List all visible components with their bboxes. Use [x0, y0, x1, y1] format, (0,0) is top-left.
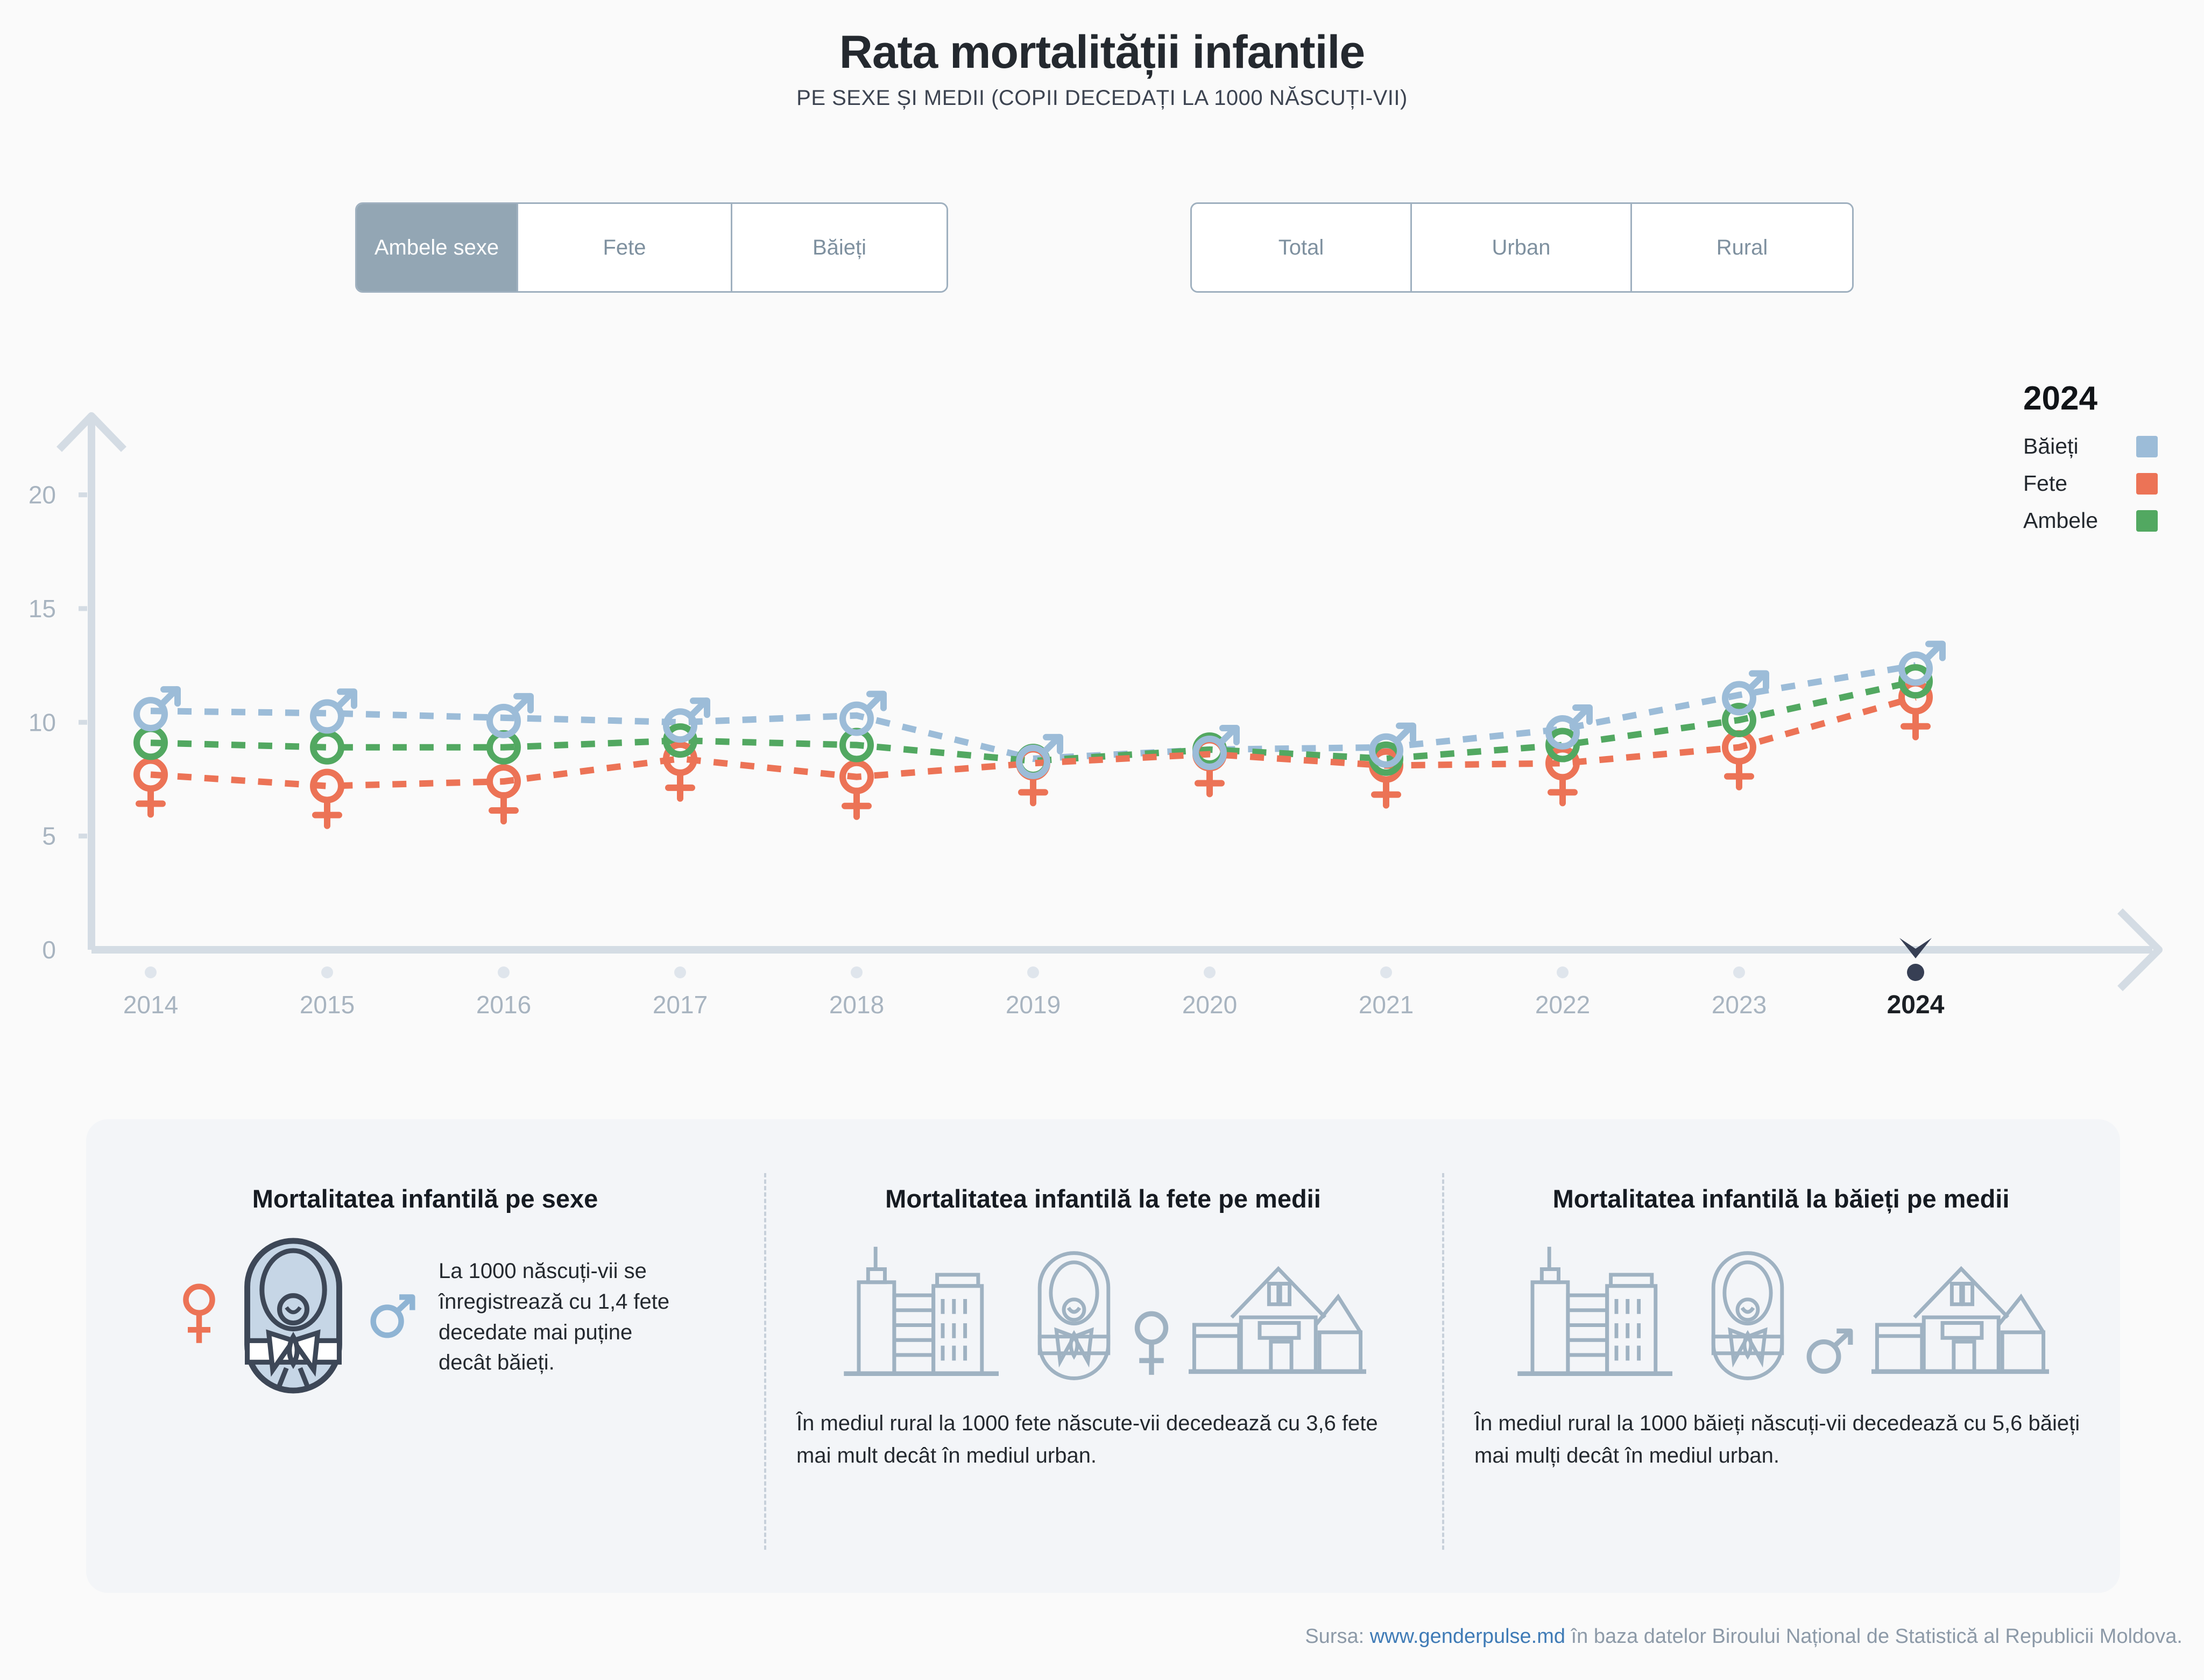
- mars-icon: [369, 1286, 417, 1348]
- card-title-by-sex: Mortalitatea infantilă pe sexe: [108, 1184, 743, 1213]
- insight-card-boys-by-env: Mortalitatea infantilă la băieți pe medi…: [1442, 1119, 2120, 1593]
- rural-houses-icon: [1871, 1259, 2049, 1386]
- toggle-urban[interactable]: Urban: [1412, 204, 1632, 291]
- svg-text:2017: 2017: [653, 991, 708, 1019]
- svg-text:20: 20: [29, 481, 56, 509]
- infographic-page: Rata mortalității infantile PE SEXE ȘI M…: [0, 0, 2204, 1680]
- toggle-ambele-sexe[interactable]: Ambele sexe: [357, 204, 518, 291]
- card-icons-boys: [1464, 1240, 2099, 1386]
- card-title-girls-by-env: Mortalitatea infantilă la fete pe medii: [786, 1184, 1421, 1213]
- card-title-boys-by-env: Mortalitatea infantilă la băieți pe medi…: [1464, 1184, 2099, 1213]
- card-body-by-sex: La 1000 născuți-vii se înregistrează cu …: [108, 1235, 743, 1399]
- source-link[interactable]: www.genderpulse.md: [1370, 1625, 1565, 1648]
- insight-card-girls-by-env: Mortalitatea infantilă la fete pe medii: [764, 1119, 1442, 1593]
- svg-text:2018: 2018: [829, 991, 884, 1019]
- svg-text:2016: 2016: [476, 991, 531, 1019]
- svg-text:2020: 2020: [1182, 991, 1237, 1019]
- svg-text:2015: 2015: [300, 991, 355, 1019]
- toggle-baieti[interactable]: Băieți: [732, 204, 946, 291]
- page-subtitle: PE SEXE ȘI MEDII (COPII DECEDAȚI LA 1000…: [0, 86, 2204, 110]
- source-suffix: în baza datelor Biroului Național de Sta…: [1565, 1625, 2182, 1648]
- swaddled-baby-icon: [1034, 1248, 1114, 1386]
- legend-swatch-ambele: [2136, 510, 2158, 532]
- card-text-by-sex: La 1000 născuți-vii se înregistrează cu …: [439, 1256, 670, 1378]
- legend-swatch-baieti: [2136, 436, 2158, 457]
- chart-legend: 2024 Băieți Fete Ambele: [2023, 382, 2185, 545]
- source-footer: Sursa: www.genderpulse.md în baza datelo…: [0, 1625, 2204, 1648]
- svg-text:15: 15: [29, 595, 56, 623]
- svg-text:2024: 2024: [1887, 991, 1945, 1019]
- toggle-rural[interactable]: Rural: [1632, 204, 1852, 291]
- legend-label-fete: Fete: [2023, 471, 2067, 496]
- venus-icon: [180, 1281, 218, 1353]
- legend-item-ambele[interactable]: Ambele: [2023, 508, 2158, 533]
- insight-card-by-sex: Mortalitatea infantilă pe sexe: [86, 1119, 764, 1593]
- legend-label-baieti: Băieți: [2023, 434, 2079, 459]
- svg-text:2023: 2023: [1712, 991, 1767, 1019]
- environment-toggle-group[interactable]: Total Urban Rural: [1190, 202, 1854, 293]
- card-icons-girls: [786, 1240, 1421, 1386]
- svg-text:10: 10: [29, 708, 56, 736]
- line-chart: 0510152020142015201620172018201920202021…: [0, 366, 2204, 1044]
- legend-item-fete[interactable]: Fete: [2023, 471, 2158, 496]
- legend-swatch-fete: [2136, 473, 2158, 495]
- legend-year: 2024: [2023, 382, 2185, 415]
- toggle-total[interactable]: Total: [1192, 204, 1412, 291]
- swaddled-baby-icon: [1707, 1248, 1788, 1386]
- legend-item-baieti[interactable]: Băieți: [2023, 434, 2158, 459]
- card-text-girls-by-env: În mediul rural la 1000 fete născute-vii…: [786, 1407, 1421, 1472]
- mars-icon: [1804, 1318, 1855, 1386]
- card-text-boys-by-env: În mediul rural la 1000 băieți născuți-v…: [1464, 1407, 2099, 1472]
- svg-text:5: 5: [42, 822, 56, 850]
- svg-text:0: 0: [42, 936, 56, 964]
- svg-text:2019: 2019: [1006, 991, 1061, 1019]
- svg-text:2014: 2014: [123, 991, 178, 1019]
- svg-text:2021: 2021: [1359, 991, 1414, 1019]
- city-buildings-icon: [1514, 1243, 1691, 1386]
- insight-cards: Mortalitatea infantilă pe sexe: [86, 1119, 2120, 1593]
- sex-toggle-group[interactable]: Ambele sexe Fete Băieți: [355, 202, 948, 293]
- page-title: Rata mortalității infantile: [0, 26, 2204, 79]
- svg-text:2022: 2022: [1535, 991, 1590, 1019]
- city-buildings-icon: [840, 1243, 1018, 1386]
- rural-houses-icon: [1189, 1259, 1366, 1386]
- swaddled-baby-icon: [239, 1235, 347, 1399]
- legend-label-ambele: Ambele: [2023, 508, 2098, 533]
- toggle-fete[interactable]: Fete: [518, 204, 732, 291]
- source-prefix: Sursa:: [1305, 1625, 1369, 1648]
- venus-icon: [1131, 1308, 1172, 1386]
